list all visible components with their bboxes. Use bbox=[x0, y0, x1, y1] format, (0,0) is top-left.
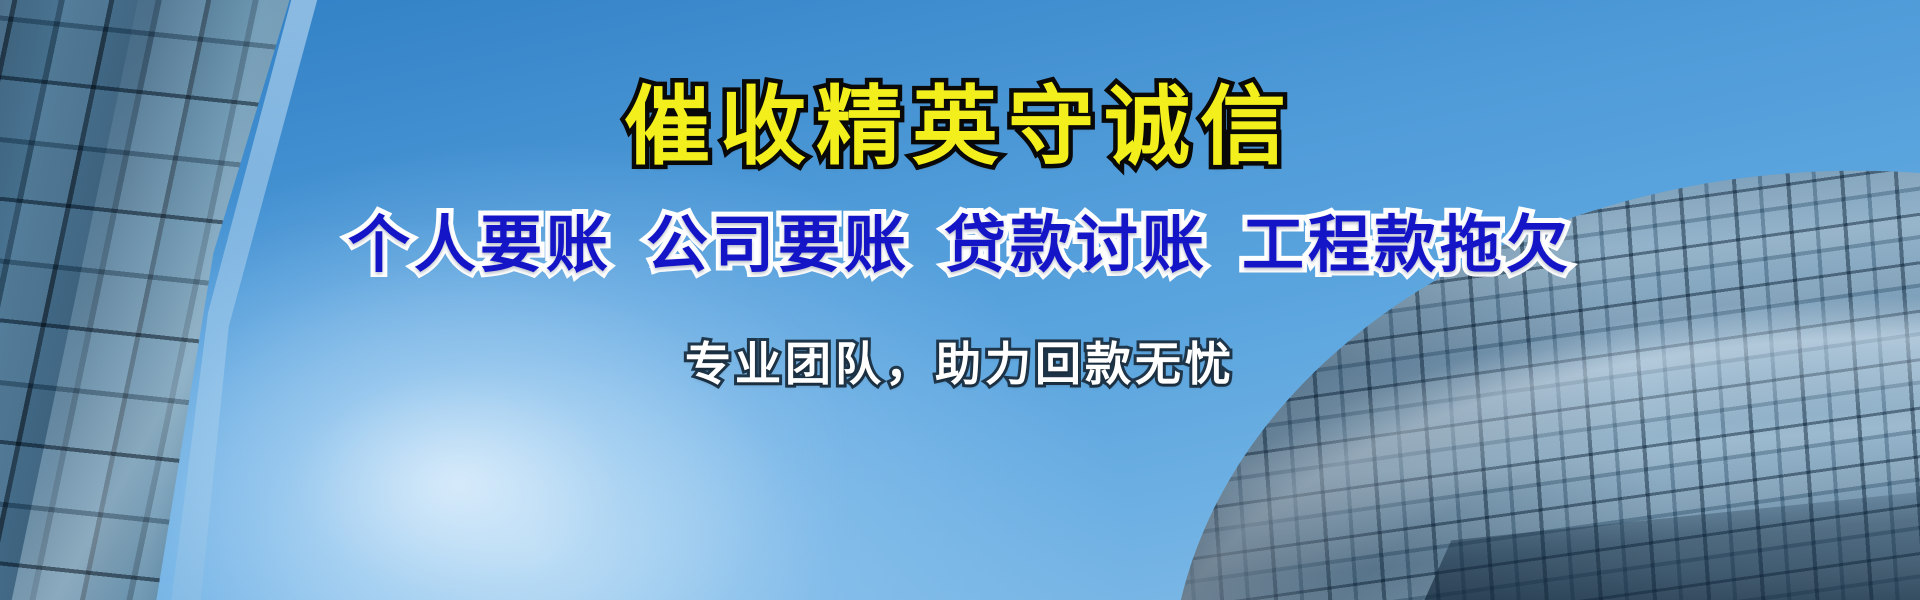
promo-banner: 催收精英守诚信 个人要账 公司要账 贷款讨账 工程款拖欠 专业团队，助力回款无忧 bbox=[0, 0, 1920, 600]
service-item-loan: 贷款讨账 bbox=[944, 194, 1208, 284]
service-item-project: 工程款拖欠 bbox=[1242, 194, 1572, 284]
banner-tagline: 专业团队，助力回款无忧 bbox=[685, 328, 1235, 394]
banner-content: 催收精英守诚信 个人要账 公司要账 贷款讨账 工程款拖欠 专业团队，助力回款无忧 bbox=[0, 0, 1920, 600]
service-item-company: 公司要账 bbox=[646, 194, 910, 284]
banner-headline: 催收精英守诚信 bbox=[624, 82, 1296, 172]
service-list: 个人要账 公司要账 贷款讨账 工程款拖欠 bbox=[348, 194, 1572, 284]
service-item-personal: 个人要账 bbox=[348, 194, 612, 284]
